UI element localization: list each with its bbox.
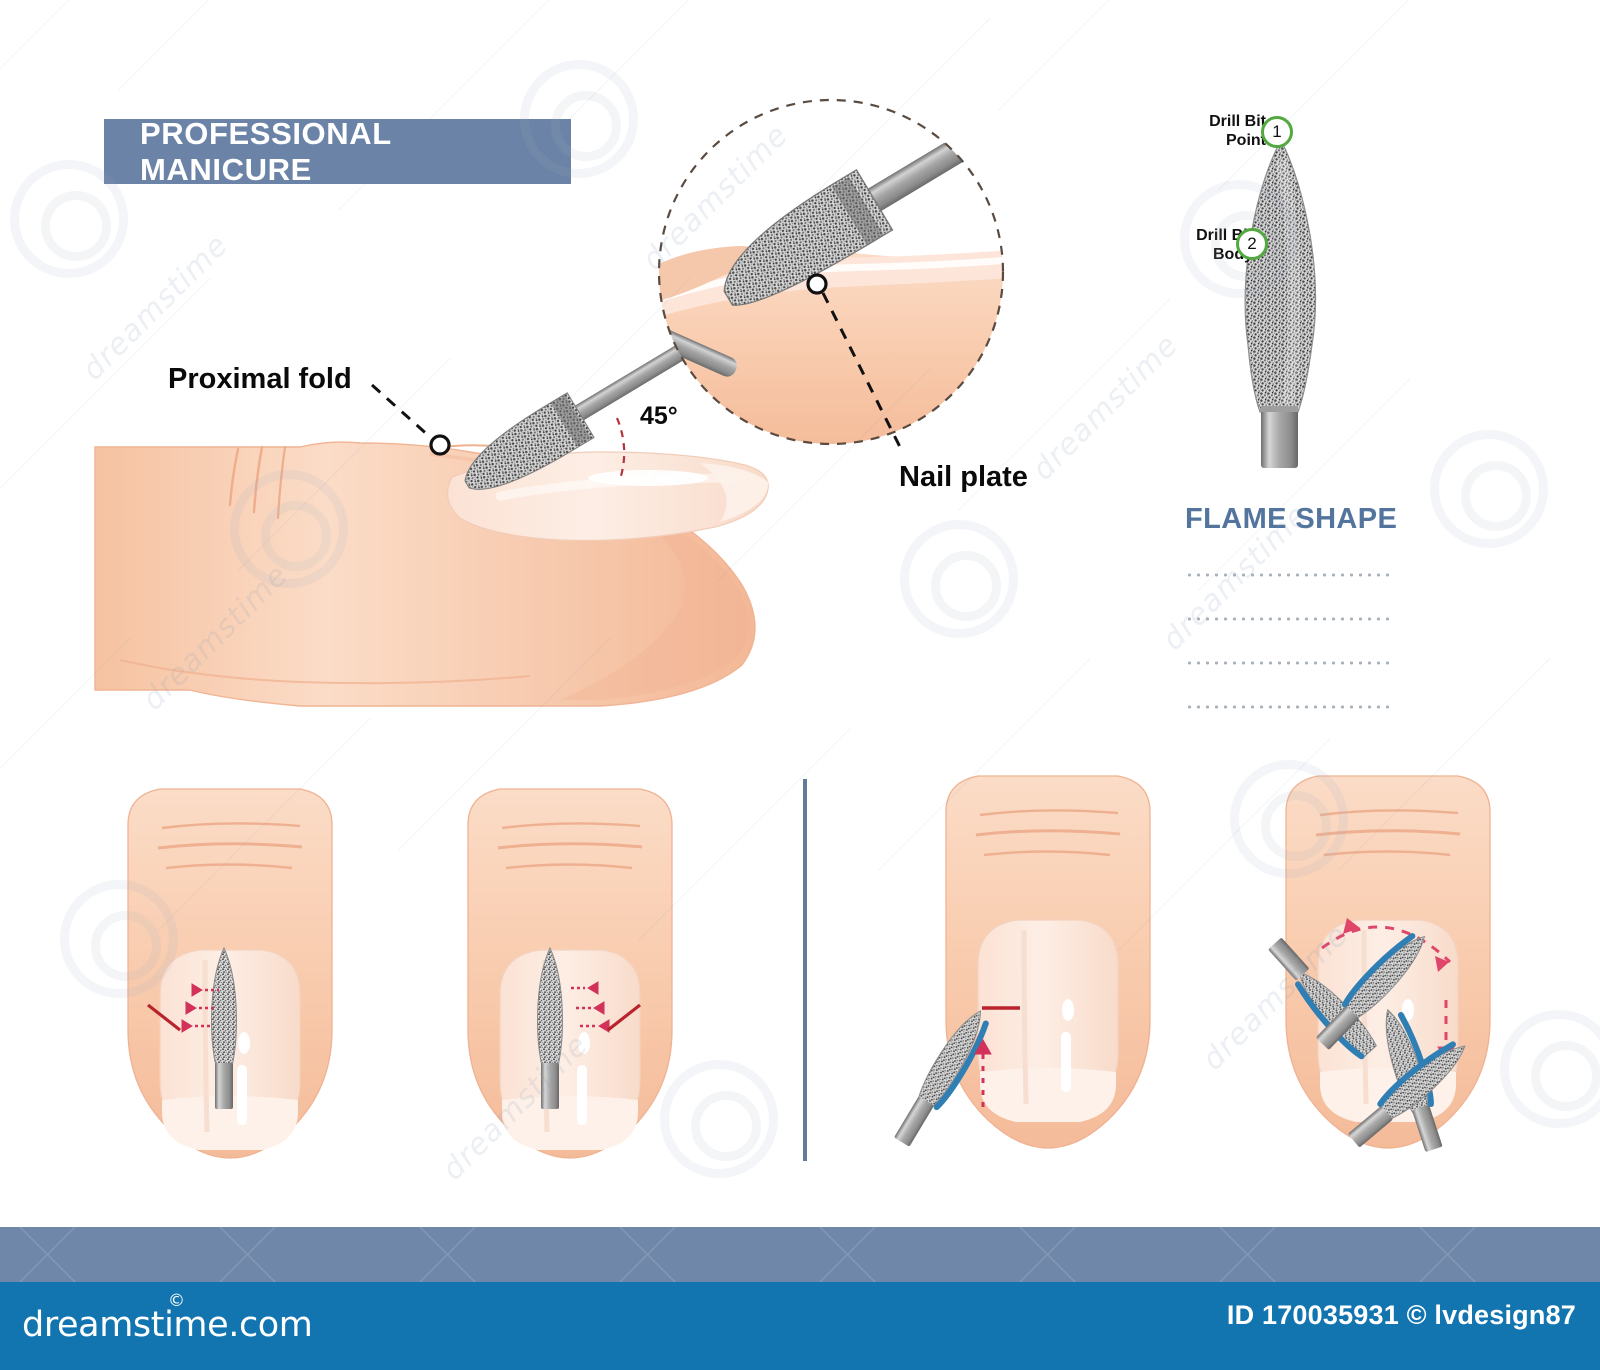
badge-2: 2 (1236, 228, 1268, 260)
dreamstime-logo-text: dreamstime.com (22, 1305, 313, 1345)
dreamstime-logo[interactable]: dreamstime.com © (22, 1305, 313, 1345)
side-view-finger (95, 297, 768, 706)
label-drill-bit-point-line2: Point (1161, 131, 1266, 150)
nail-panel-4 (1264, 776, 1490, 1153)
flame-shape-drill-bit (1245, 140, 1315, 468)
badge-1: 1 (1261, 116, 1293, 148)
nail-panel-1 (128, 789, 332, 1158)
label-proximal-fold: Proximal fold (168, 363, 352, 396)
registered-mark-icon: © (168, 1291, 185, 1311)
nail-panel-3 (891, 776, 1150, 1150)
image-id-credit: ID 170035931 © lvdesign87 (1227, 1300, 1576, 1331)
panel-divider (803, 779, 807, 1161)
page-title: PROFESSIONAL MANICURE (140, 116, 571, 188)
label-nail-plate: Nail plate (899, 461, 1028, 494)
note-line-2 (1185, 617, 1390, 621)
footer-band-gray (0, 1227, 1600, 1282)
magnified-detail (640, 96, 1011, 452)
note-line-3 (1185, 661, 1390, 665)
note-line-1 (1185, 573, 1390, 577)
label-angle-45: 45° (640, 402, 678, 431)
page-title-bar: PROFESSIONAL MANICURE (104, 119, 571, 184)
label-drill-bit-point-line1: Drill Bit (1161, 112, 1266, 131)
label-flame-shape: FLAME SHAPE (1185, 503, 1397, 536)
label-drill-bit-point: Drill Bit Point (1161, 112, 1266, 150)
note-line-4 (1185, 705, 1390, 709)
nail-panel-2 (468, 789, 672, 1158)
